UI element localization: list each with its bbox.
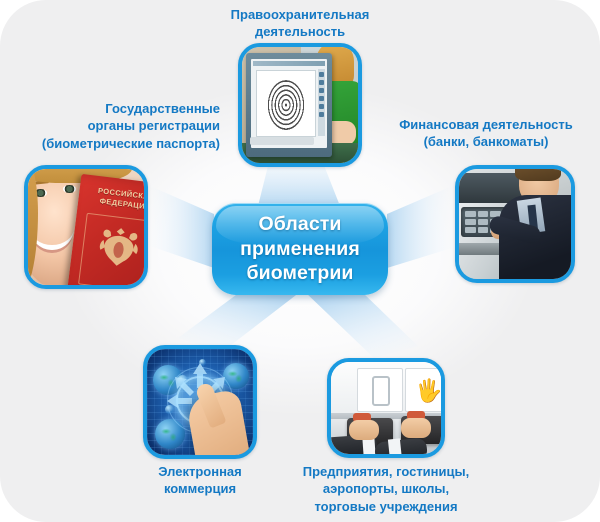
label-financial: Финансовая деятельность (банки, банкомат…: [378, 116, 594, 151]
label-law-enforcement: Правоохранительная деятельность: [190, 6, 410, 41]
card-ecommerce[interactable]: [143, 345, 257, 459]
label-ecommerce: Электронная коммерция: [120, 463, 280, 498]
image-atm: [459, 169, 571, 279]
info-panel-phone: [357, 368, 403, 412]
center-title-line-2: применения: [240, 238, 360, 260]
passport-cover-text: РОССИЙСКАЯ ФЕДЕРАЦИЯ: [86, 185, 144, 215]
card-financial[interactable]: [455, 165, 575, 283]
image-hand-scanner: 🖐: [331, 362, 441, 454]
image-passport: РОССИЙСКАЯ ФЕДЕРАЦИЯ: [28, 169, 144, 285]
beam-to-state-registration: [150, 186, 214, 268]
beam-to-financial: [387, 186, 452, 268]
diagram-canvas: Областиприменениябиометрии Правоохраните…: [0, 0, 600, 522]
center-title-line-1: Области: [258, 213, 341, 235]
label-state-registration: Государственные органы регистрации (биом…: [8, 100, 220, 152]
center-node[interactable]: Областиприменениябиометрии: [212, 203, 388, 295]
info-panel-hand: 🖐: [405, 368, 441, 412]
label-enterprises: Предприятия, гостиницы, аэропорты, школы…: [272, 463, 500, 515]
card-law-enforcement[interactable]: [238, 43, 362, 167]
coat-of-arms-icon: [94, 220, 144, 275]
center-node-title: Областиприменениябиометрии: [240, 212, 360, 286]
card-enterprises[interactable]: 🖐: [327, 358, 445, 458]
center-title-line-3: биометрии: [246, 262, 353, 284]
phone-icon: [372, 376, 390, 406]
beam-to-ecommerce: [178, 292, 300, 352]
passport-booklet: РОССИЙСКАЯ ФЕДЕРАЦИЯ: [67, 174, 144, 285]
hand-icon: 🖐: [415, 380, 441, 402]
fingerprint-graphic: [267, 78, 305, 130]
beam-to-enterprises: [305, 292, 418, 358]
image-fingerprint-workstation: [242, 47, 358, 163]
card-state-registration[interactable]: РОССИЙСКАЯ ФЕДЕРАЦИЯ: [24, 165, 148, 289]
image-ecommerce-network: [147, 349, 253, 455]
